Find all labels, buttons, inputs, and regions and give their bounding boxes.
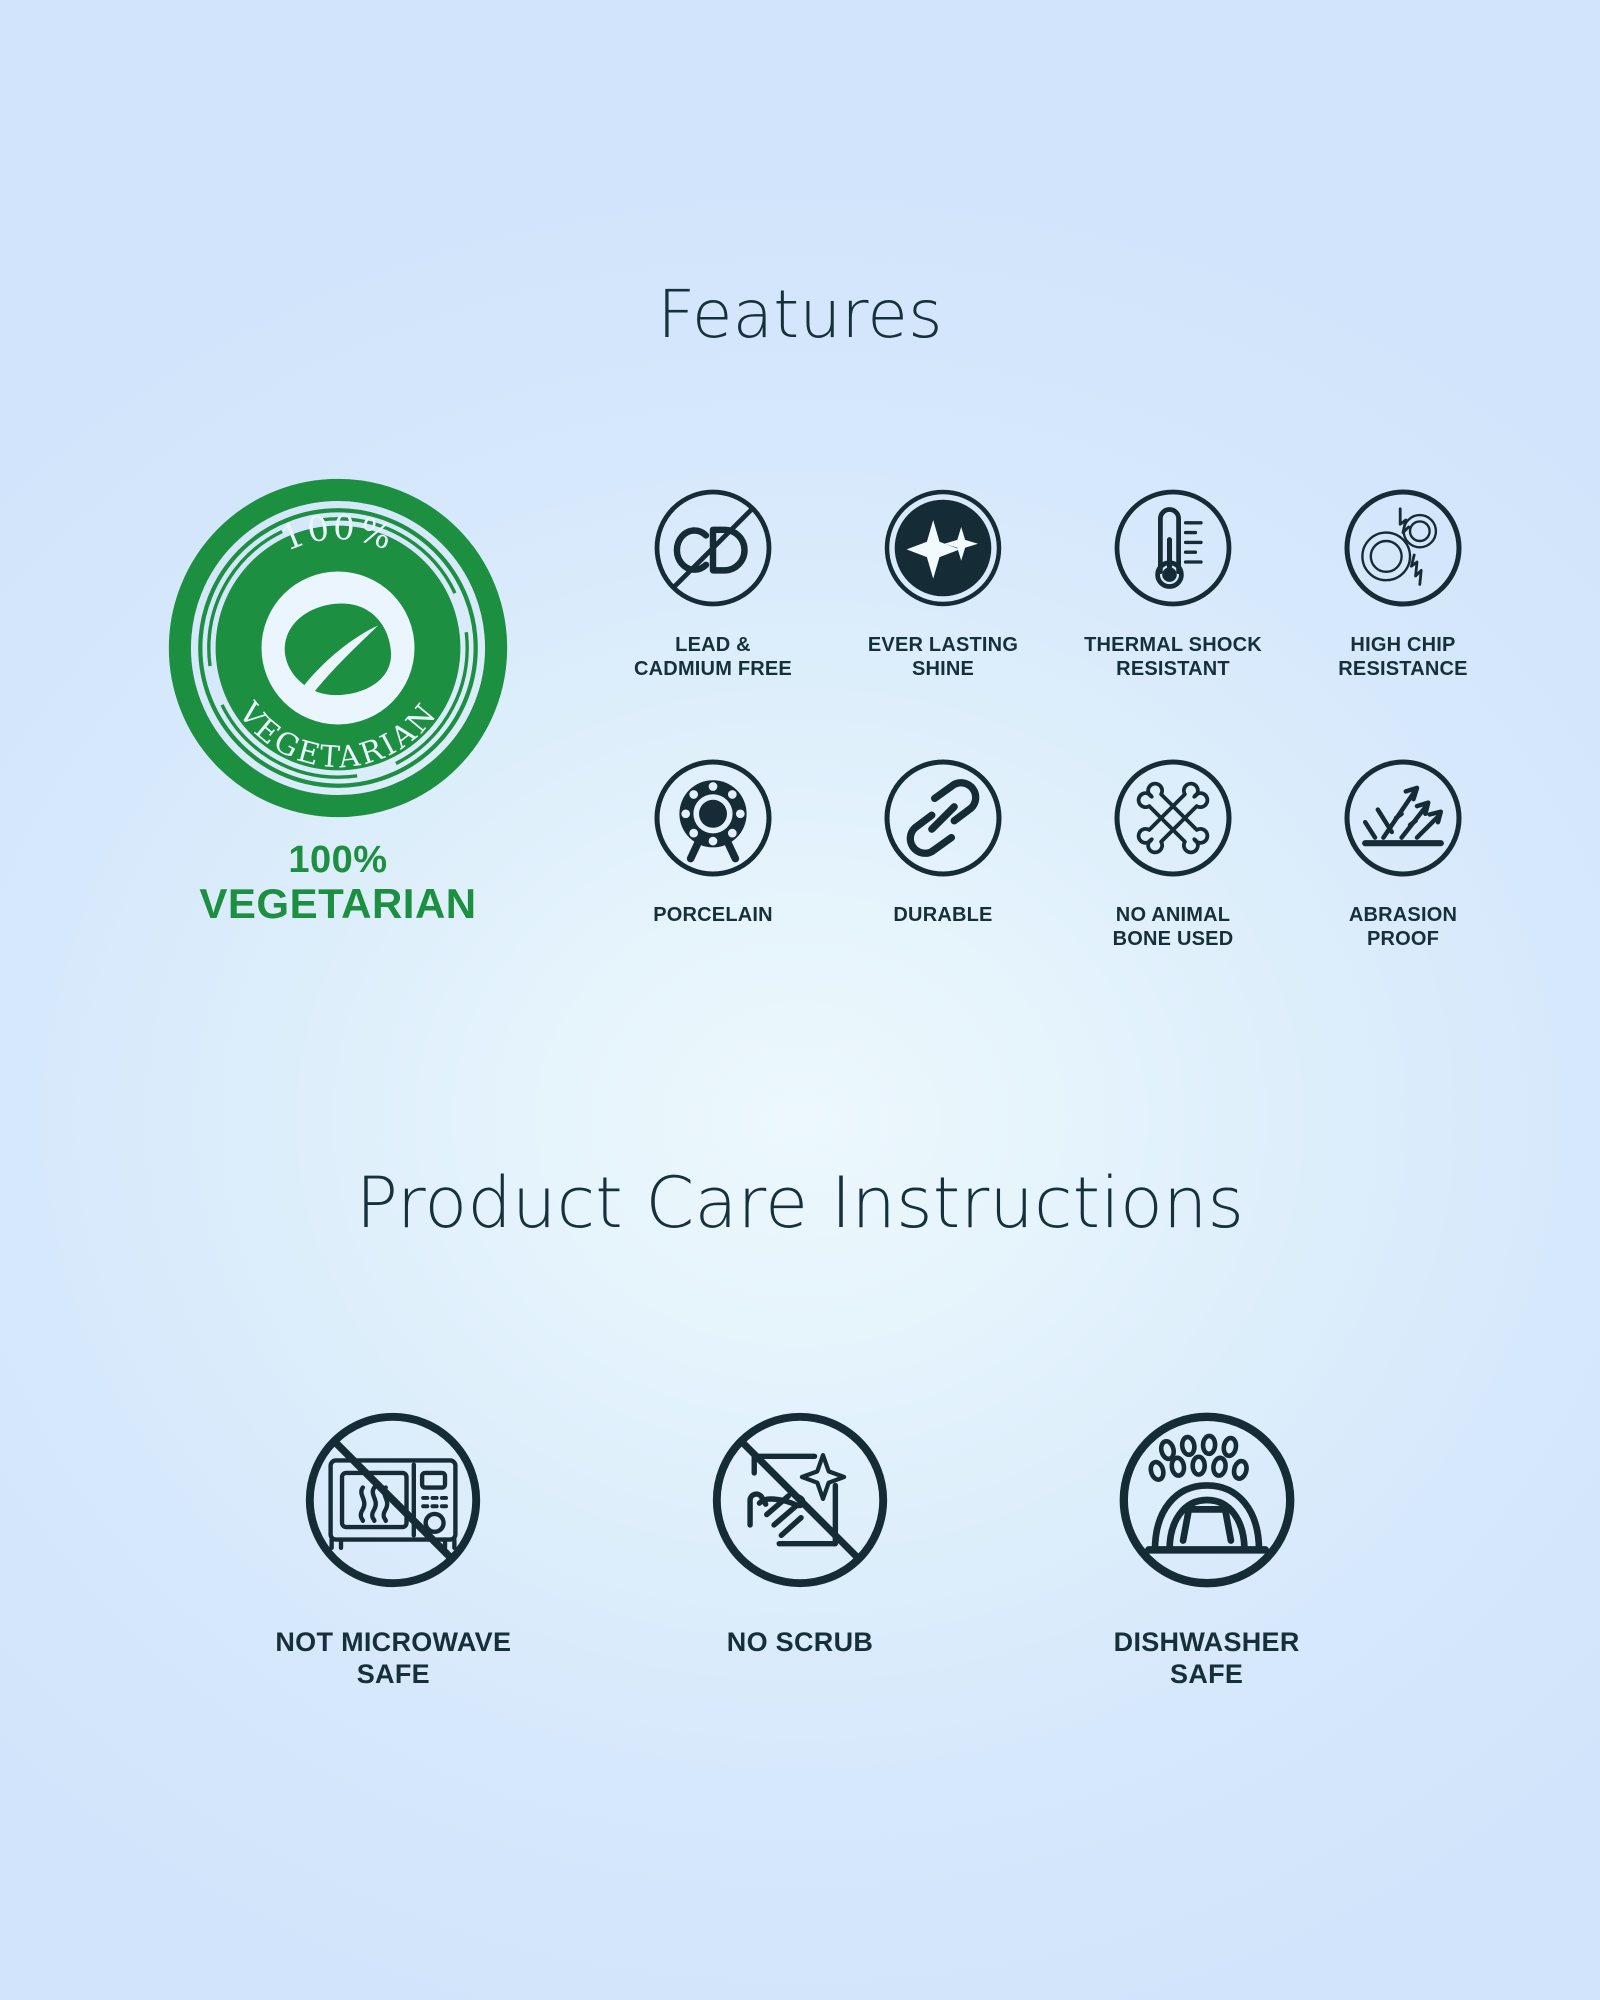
care-label: NO SCRUB xyxy=(727,1626,873,1658)
care-dishwasher-safe: DISHWASHERSAFE xyxy=(1003,1396,1410,1691)
vegetarian-leaf-seal-icon: 100% VEGETARIAN xyxy=(168,478,508,818)
feature-label: HIGH CHIPRESISTANCE xyxy=(1296,634,1511,681)
feature-label: PORCELAIN xyxy=(606,904,821,928)
product-features-infographic: Features 100% xyxy=(0,0,1600,2000)
feature-no-animal-bone: NO ANIMALBONE USED xyxy=(1058,748,1288,1018)
vegetarian-caption-line1: 100% xyxy=(158,840,518,881)
care-icon-grid: NOT MICROWAVESAFE xyxy=(190,1396,1410,1691)
feature-label: DURABLE xyxy=(836,904,1051,928)
feature-porcelain: PORCELAIN xyxy=(598,748,828,1018)
features-section-title: Features xyxy=(0,282,1600,348)
chip-resistant-plates-icon xyxy=(1333,478,1473,618)
feature-label: EVER LASTINGSHINE xyxy=(836,634,1051,681)
abrasion-arrows-icon xyxy=(1333,748,1473,888)
feature-label: THERMAL SHOCKRESISTANT xyxy=(1066,634,1281,681)
vegetarian-badge-block: 100% VEGETARIAN 100% VEGETARIAN xyxy=(158,478,518,926)
thermometer-icon xyxy=(1103,478,1243,618)
porcelain-plate-icon xyxy=(643,748,783,888)
care-label: DISHWASHERSAFE xyxy=(1114,1626,1300,1691)
feature-lead-cadmium-free: LEAD &CADMIUM FREE xyxy=(598,478,828,748)
sparkle-shine-icon xyxy=(873,478,1013,618)
feature-label: NO ANIMALBONE USED xyxy=(1066,904,1281,951)
no-microwave-icon xyxy=(289,1396,497,1604)
feature-ever-lasting-shine: EVER LASTINGSHINE xyxy=(828,478,1058,748)
feature-label: ABRASIONPROOF xyxy=(1296,904,1511,951)
feature-abrasion-proof: ABRASIONPROOF xyxy=(1288,748,1518,1018)
care-section-title: Product Care Instructions xyxy=(0,1168,1600,1238)
dishwasher-safe-icon xyxy=(1103,1396,1311,1604)
no-scrub-icon xyxy=(696,1396,904,1604)
crossed-bones-icon xyxy=(1103,748,1243,888)
feature-label: LEAD &CADMIUM FREE xyxy=(606,634,821,681)
chain-link-icon xyxy=(873,748,1013,888)
care-not-microwave-safe: NOT MICROWAVESAFE xyxy=(190,1396,597,1691)
features-icon-grid: LEAD &CADMIUM FREE EVER LASTINGSHINE xyxy=(598,478,1518,1018)
care-label: NOT MICROWAVESAFE xyxy=(275,1626,511,1691)
feature-durable: DURABLE xyxy=(828,748,1058,1018)
no-lead-cadmium-icon xyxy=(643,478,783,618)
feature-thermal-shock-resistant: THERMAL SHOCKRESISTANT xyxy=(1058,478,1288,748)
feature-high-chip-resistance: HIGH CHIPRESISTANCE xyxy=(1288,478,1518,748)
care-no-scrub: NO SCRUB xyxy=(597,1396,1004,1691)
vegetarian-caption-line2: VEGETARIAN xyxy=(158,881,518,926)
vegetarian-caption: 100% VEGETARIAN xyxy=(158,840,518,926)
